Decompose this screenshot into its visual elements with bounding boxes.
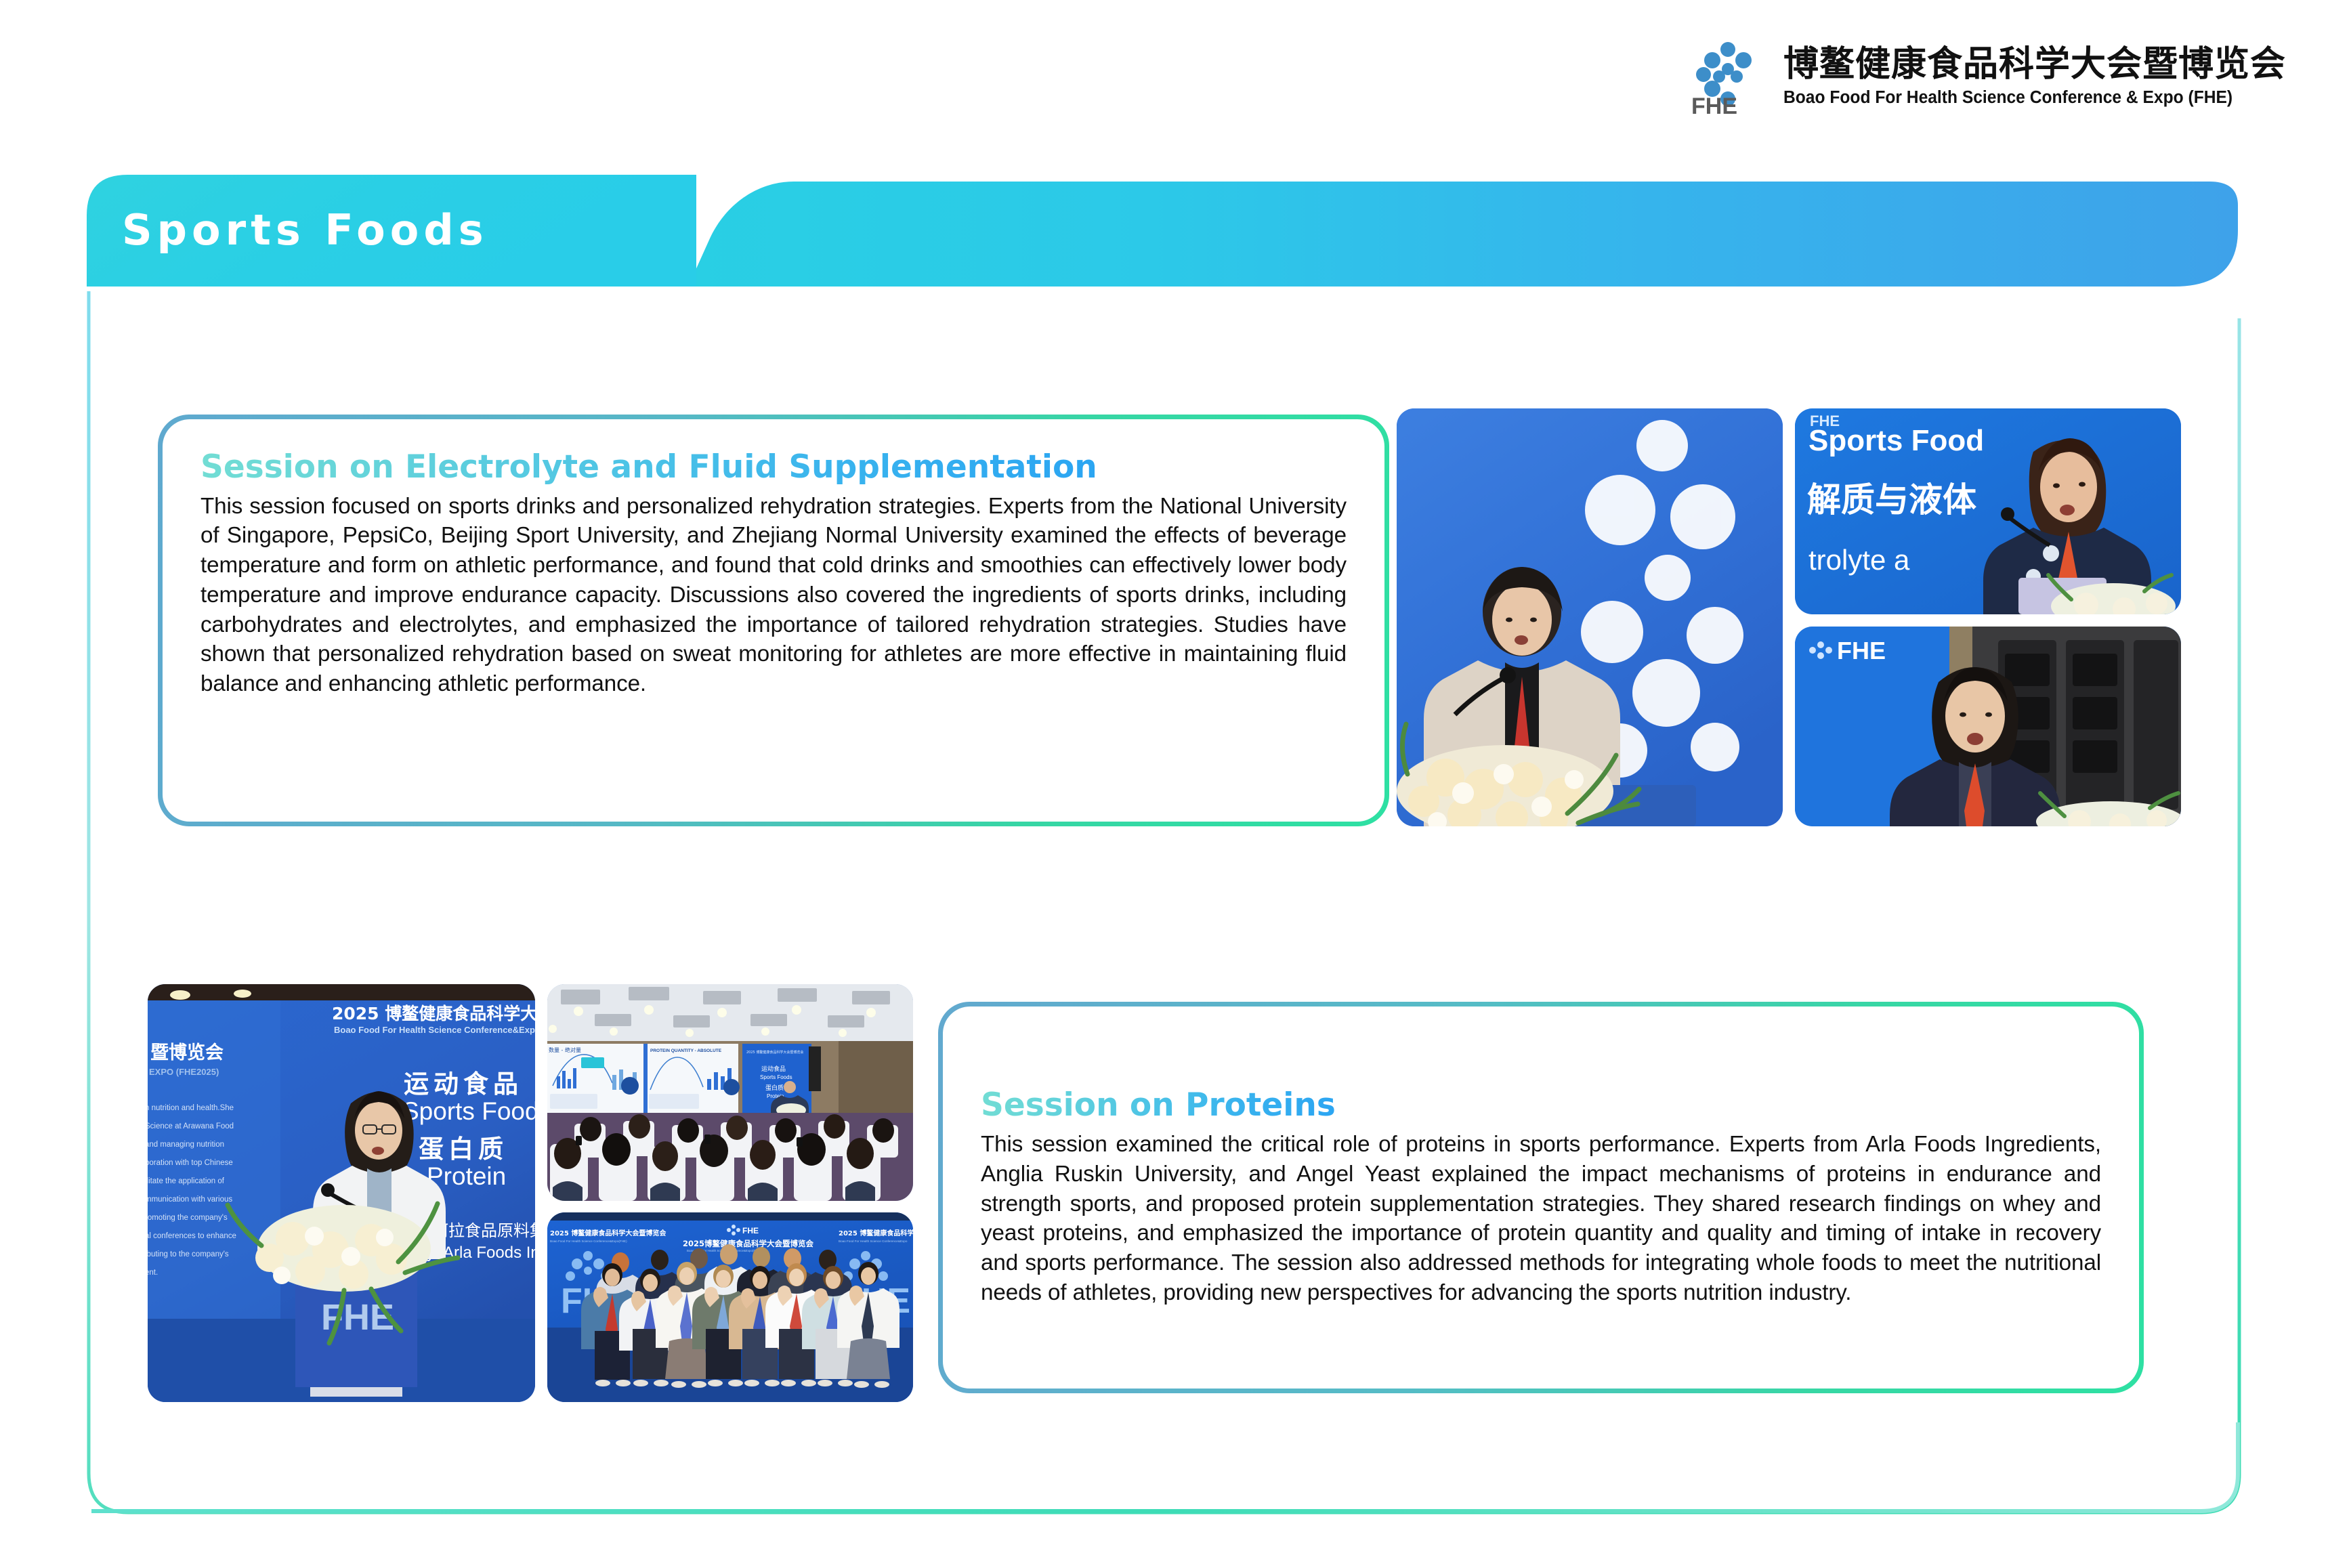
photo-panel-speaker: FHE <box>1795 627 2181 826</box>
card-title-electrolyte: Session on Electrolyte and Fluid Supplem… <box>200 449 1097 486</box>
svg-text:and managing nutrition: and managing nutrition <box>148 1141 224 1149</box>
card-title-proteins: Session on Proteins <box>981 1087 1336 1124</box>
page-title: Sports Foods <box>122 205 488 255</box>
brand-header: FHE 博鳌健康食品科学大会暨博览会 Boao Food For Health … <box>1690 39 2286 115</box>
svg-text:Boao Food For Health Science C: Boao Food For Health Science Conference&… <box>334 1025 535 1035</box>
fhe-molecule-logo-icon: FHE <box>1690 39 1766 115</box>
svg-text:mmunication with various: mmunication with various <box>148 1195 232 1204</box>
svg-text:FHE: FHE <box>1837 637 1886 664</box>
svg-text:Sports Foods: Sports Foods <box>402 1097 535 1125</box>
brand-name-en: Boao Food For Health Science Conference … <box>1783 87 2268 109</box>
svg-text:ilitate the application of: ilitate the application of <box>148 1177 225 1185</box>
poster-page: FHE 博鳌健康食品科学大会暨博览会 Boao Food For Health … <box>0 0 2328 1568</box>
svg-text:Boao Food For Health Science C: Boao Food For Health Science Conference&… <box>839 1239 908 1243</box>
card-proteins-session: Session on Proteins This session examine… <box>938 1002 2144 1393</box>
svg-text:Sports Foods: Sports Foods <box>760 1074 792 1080</box>
svg-text:2025 博鳌健康食品科学大会暨: 2025 博鳌健康食品科学大会暨 <box>839 1229 913 1237</box>
svg-text:EXPO (FHE2025): EXPO (FHE2025) <box>149 1067 219 1077</box>
photo-audience-hall: 数量 - 绝对量 PROTEIN QUANTITY - ABSOLUTE <box>547 984 913 1201</box>
card-body-electrolyte: This session focused on sports drinks an… <box>200 492 1347 699</box>
svg-text:ent.: ent. <box>148 1269 158 1277</box>
svg-text:FHE: FHE <box>1691 93 1737 115</box>
svg-text:Boao Food For Health Science C: Boao Food For Health Science Conference&… <box>550 1239 627 1243</box>
card-electrolyte-session: Session on Electrolyte and Fluid Supplem… <box>158 415 1389 826</box>
svg-text:Science at Arawana Food: Science at Arawana Food <box>148 1122 234 1130</box>
svg-text:ibuting to the company's: ibuting to the company's <box>148 1250 229 1258</box>
svg-text:al conferences to enhance: al conferences to enhance <box>148 1232 236 1240</box>
svg-text:FHE: FHE <box>742 1226 759 1235</box>
photo-group-award: 2025 博鳌健康食品科学大会暨博览会 Boao Food For Health… <box>547 1212 913 1402</box>
svg-text:蛋白质: 蛋白质 <box>419 1135 508 1164</box>
photo-keynote-speaker <box>1397 408 1783 826</box>
svg-text:运动食品: 运动食品 <box>404 1069 523 1099</box>
card-body-proteins: This session examined the critical role … <box>981 1130 2101 1308</box>
svg-text:2025 博鳌健康食品科学大会暨博览会: 2025 博鳌健康食品科学大会暨博览会 <box>746 1050 803 1055</box>
svg-text:PROTEIN QUANTITY - ABSOLUTE: PROTEIN QUANTITY - ABSOLUTE <box>650 1048 722 1053</box>
svg-text:蛋白质: 蛋白质 <box>765 1084 784 1092</box>
photo-intl-speaker: FHE Sports Food 解质与液体 trolyte a <box>1795 408 2181 614</box>
svg-text:boration with top Chinese: boration with top Chinese <box>148 1159 233 1167</box>
svg-text:暨博览会: 暨博览会 <box>150 1042 224 1063</box>
brand-name-cn: 博鳌健康食品科学大会暨博览会 <box>1783 45 2286 83</box>
photo-podium-banner: 暨博览会 EXPO (FHE2025) n nutrition and heal… <box>148 984 535 1402</box>
svg-text:数量 - 绝对量: 数量 - 绝对量 <box>549 1046 581 1053</box>
svg-text:n nutrition and health.She: n nutrition and health.She <box>148 1104 234 1112</box>
svg-text:2025 博鳌健康食品科学大会暨: 2025 博鳌健康食品科学大会暨 <box>332 1004 535 1023</box>
svg-text:Protein: Protein <box>427 1162 506 1190</box>
svg-text:阿拉食品原料集团: 阿拉食品原料集团 <box>432 1221 535 1240</box>
section-title-tab: Sports Foods <box>87 175 696 287</box>
svg-text:解质与液体: 解质与液体 <box>1807 480 1976 520</box>
svg-text:2025 博鳌健康食品科学大会暨博览会: 2025 博鳌健康食品科学大会暨博览会 <box>550 1229 666 1237</box>
svg-text:trolyte a: trolyte a <box>1808 544 1910 576</box>
svg-text:2025博鳌健康食品科学大会暨博览会: 2025博鳌健康食品科学大会暨博览会 <box>683 1239 814 1248</box>
svg-text:romoting the company's: romoting the company's <box>148 1214 228 1222</box>
svg-text:Sports Food: Sports Food <box>1808 424 1984 457</box>
svg-text:运动食品: 运动食品 <box>761 1065 786 1073</box>
